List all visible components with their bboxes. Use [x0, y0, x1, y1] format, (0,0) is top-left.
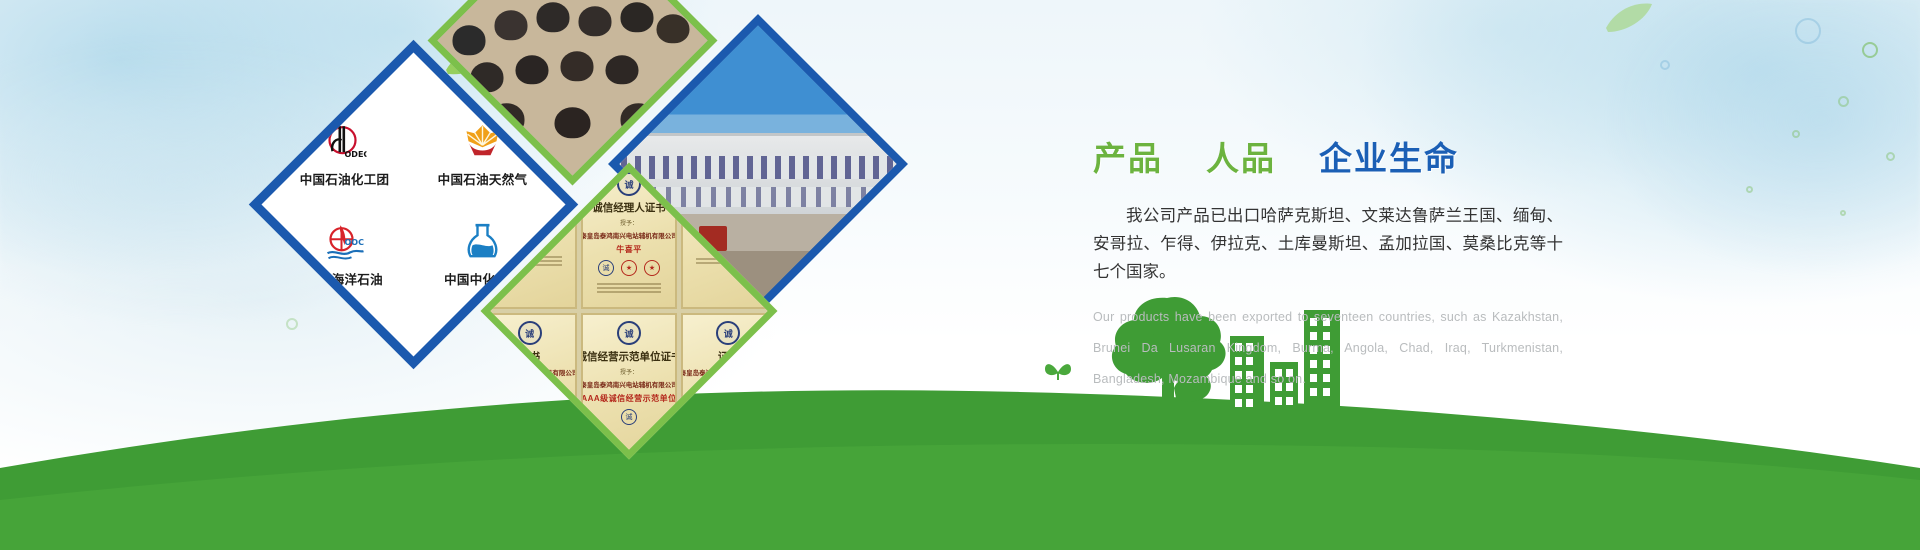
person	[453, 24, 486, 54]
certificate-stamp-red: ★	[644, 260, 660, 276]
certificate-title: 诚信经理人证书	[592, 200, 666, 215]
bubble-circle-icon	[1840, 210, 1846, 216]
body-text-english: Our products have been exported to seven…	[1093, 302, 1563, 395]
butterfly-icon	[1043, 360, 1073, 382]
banner-stage: ODEC 中国石油化工团 中国石油天然气	[0, 0, 1920, 550]
copy-block: 产品 人品 企业生命 我公司产品已出口哈萨克斯坦、文莱达鲁萨兰王国、缅甸、安哥拉…	[1093, 132, 1563, 395]
bubble-circle-icon	[1795, 18, 1821, 44]
certificate-stamp-blue: 诚	[598, 260, 614, 276]
person	[561, 50, 594, 80]
cnooc-logo-icon: OOC	[322, 222, 368, 264]
person	[579, 6, 612, 36]
body-text-chinese: 我公司产品已出口哈萨克斯坦、文莱达鲁萨兰王国、缅甸、安哥拉、乍得、伊拉克、土库曼…	[1093, 202, 1563, 286]
leaf-icon	[1604, 0, 1654, 40]
certificate-stamp-blue: 诚	[621, 409, 637, 425]
sinochem-logo-icon	[460, 222, 506, 264]
certificate-stamps: 诚	[621, 409, 637, 425]
bubble-circle-icon	[1862, 42, 1878, 58]
bubble-circle-icon	[1886, 152, 1895, 161]
person	[537, 2, 570, 32]
certificate-detail-lines	[597, 281, 661, 295]
green-hill	[0, 350, 1920, 550]
certificate-grade: AAA级诚信经营示范单位	[581, 393, 676, 404]
bubble-circle-icon	[1660, 60, 1670, 70]
person	[555, 106, 591, 138]
sinopec-logo-icon: ODEC	[322, 122, 368, 164]
certificate-company: 秦皇岛泰鸿南兴电站辅机有限公司	[581, 230, 676, 240]
bubble-circle-icon	[1792, 130, 1800, 138]
certificate-seal-icon: 诚	[716, 321, 740, 345]
svg-text:ODEC: ODEC	[345, 150, 367, 159]
partner-label: 中国石油天然气	[438, 169, 528, 188]
certificate-recipient-label: 授予：	[620, 218, 638, 227]
certificate-seal-icon: 诚	[518, 321, 542, 345]
certificate-seal-icon: 诚	[617, 321, 641, 345]
partner-label: 中国石油化工团	[300, 169, 390, 188]
person	[495, 9, 528, 39]
person	[516, 54, 549, 84]
certificate-recipient-label: 授予：	[620, 367, 638, 376]
bubble-circle-icon	[286, 318, 298, 330]
person	[657, 13, 690, 43]
bubble-circle-icon	[1746, 186, 1753, 193]
certificate-person: 牛喜平	[616, 244, 642, 255]
person	[471, 62, 504, 92]
certificate-seal-icon: 诚	[617, 172, 641, 196]
certificate-company: 秦皇岛泰鸿南兴电站辅机有限公司	[581, 379, 676, 389]
svg-text:OOC: OOC	[345, 238, 365, 247]
person	[606, 54, 639, 84]
headline-part-2: 人品	[1206, 139, 1276, 178]
headline-part-3: 企业生命	[1319, 139, 1459, 178]
certificate-title: 诚信经营示范单位证书	[581, 349, 676, 364]
certificate-stamp-red: ★	[621, 260, 637, 276]
certificate-stamps: 诚 ★ ★	[598, 260, 660, 276]
person	[621, 2, 654, 32]
headline-part-1: 产品	[1093, 139, 1163, 178]
bubble-circle-icon	[1838, 96, 1849, 107]
petrochina-logo-icon	[460, 122, 506, 164]
partner-logo-grid: ODEC 中国石油化工团 中国石油天然气	[279, 110, 549, 300]
factory-window-row-upper	[621, 156, 895, 179]
page-title: 产品 人品 企业生命	[1093, 132, 1563, 180]
